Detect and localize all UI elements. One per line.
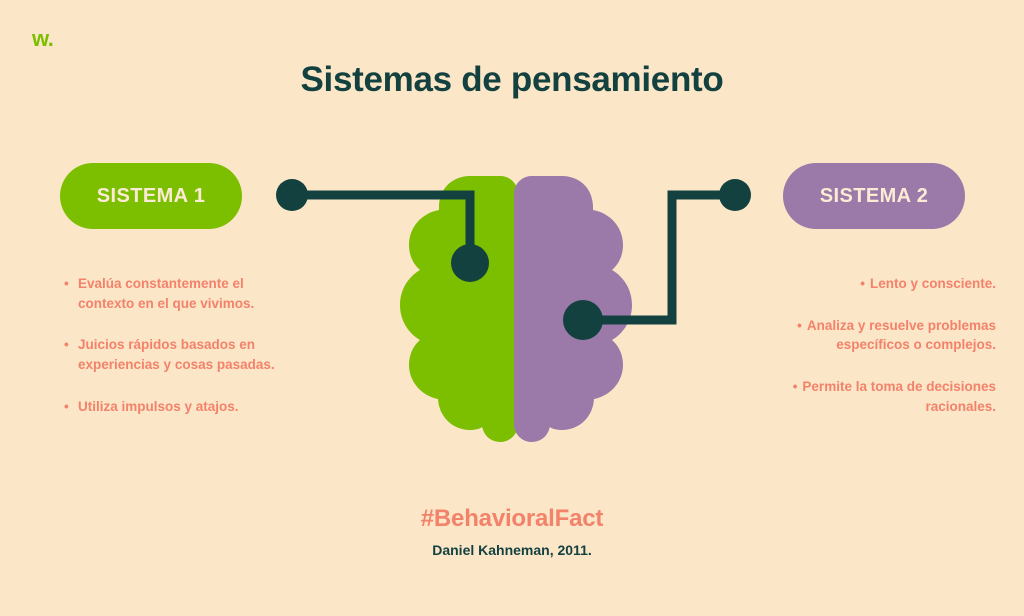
list-item-label: Permite la toma de decisiones racionales… (802, 379, 996, 414)
list-item: Evalúa constantemente el contexto en el … (62, 274, 290, 313)
bullet-dot-icon: • (793, 379, 798, 394)
right-hemisphere-purple (514, 176, 632, 442)
page-title: Sistemas de pensamiento (0, 60, 1024, 100)
list-item: Utiliza impulsos y atajos. (62, 397, 290, 417)
left-hemisphere-green (400, 176, 518, 442)
brain-illustration (396, 176, 636, 442)
list-item: •Permite la toma de decisiones racionale… (768, 377, 996, 416)
sistema-1-bullet-list: Evalúa constantemente el contexto en el … (62, 274, 290, 439)
infographic-canvas: w. Sistemas de pensamiento SISTEMA 1 SIS… (0, 0, 1024, 616)
list-item: •Lento y consciente. (768, 274, 996, 294)
list-item-label: Analiza y resuelve problemas específicos… (807, 318, 996, 353)
list-item-label: Lento y consciente. (870, 276, 996, 291)
hashtag-label: #BehavioralFact (0, 505, 1024, 533)
sistema-2-bullet-list: •Lento y consciente. •Analiza y resuelve… (768, 274, 996, 439)
right-outer-node-icon[interactable] (719, 179, 751, 211)
bullet-dot-icon: • (797, 318, 802, 333)
sistema-2-label: SISTEMA 2 (820, 185, 928, 208)
sistema-1-badge[interactable]: SISTEMA 1 (60, 163, 242, 229)
left-outer-node-icon[interactable] (276, 179, 308, 211)
sistema-2-badge[interactable]: SISTEMA 2 (783, 163, 965, 229)
sistema-1-label: SISTEMA 1 (97, 185, 205, 208)
list-item: •Analiza y resuelve problemas específico… (768, 316, 996, 355)
bullet-dot-icon: • (860, 276, 865, 291)
brand-logo: w. (32, 28, 53, 50)
attribution-label: Daniel Kahneman, 2011. (0, 542, 1024, 558)
list-item: Juicios rápidos basados en experiencias … (62, 335, 290, 374)
